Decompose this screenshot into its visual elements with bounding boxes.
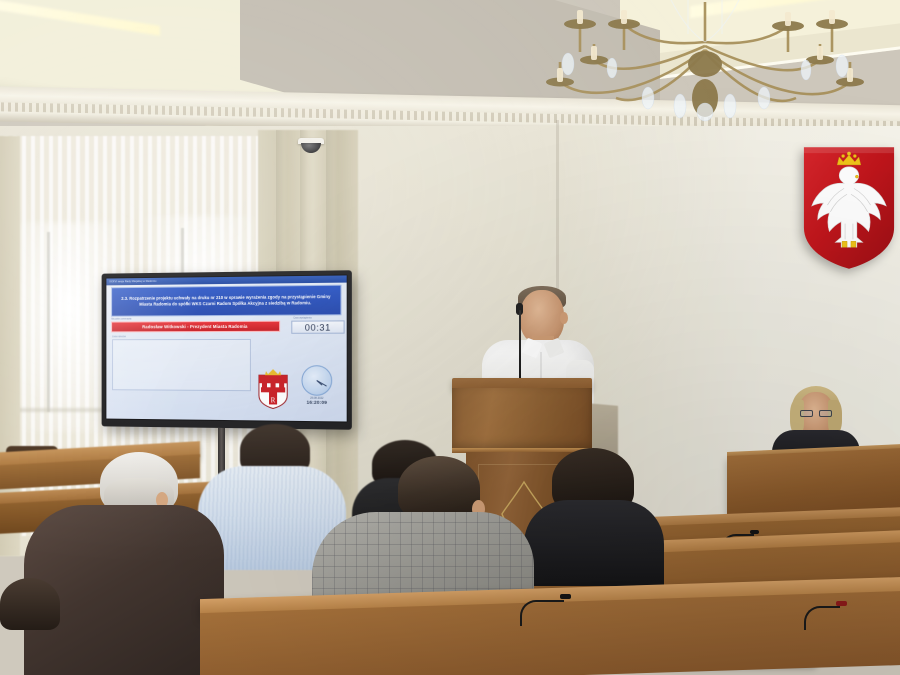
speaker-caption-label: Aktualnie przemawia [111,319,131,321]
council-chamber-photo: XXXVI sesja Rady Miejskiej w Radomiu 2.3… [0,0,900,675]
speaker-ear [560,312,568,324]
speaker-list-box [112,339,251,391]
audience-head-bottom-left [0,578,60,630]
presentation-display[interactable]: XXXVI sesja Rady Miejskiej w Radomiu 2.3… [102,270,352,429]
audience-body-dark [524,500,664,586]
timer-value: 00:31 [305,322,331,332]
tv-bezel: XXXVI sesja Rady Miejskiej w Radomiu 2.3… [105,274,347,422]
slide-titlebar: XXXVI sesja Rady Miejskiej w Radomiu [106,275,346,285]
speaker-name: Radosław Witkowski - Prezydent Miasta Ra… [142,324,247,329]
timer-label: Czas wystąpienia [293,318,311,320]
dais-woman-hair-left [790,400,804,434]
dais-desk-front [727,448,900,516]
wall-clock-widget: 25.08.2022 16:20:09 [299,365,334,412]
clock-face [301,365,332,396]
podium-microphone-stem [519,310,521,382]
agenda-item-text: 2.3. Rozpatrzenie projektu uchwały na dr… [118,294,334,308]
svg-text:R: R [271,397,276,404]
agenda-banner: 2.3. Rozpatrzenie projektu uchwały na dr… [111,285,341,317]
clock-time: 16:20:09 [299,400,334,405]
chandelier-icon [520,0,880,124]
gooseneck-microphone[interactable] [520,592,580,626]
dome-camera-icon [298,138,324,152]
radom-crest-icon: R [256,365,290,410]
speech-timer: 00:31 [291,320,344,333]
dais-woman-hair-right [828,400,842,434]
polish-coat-of-arms-emblem [800,143,898,271]
speaker-list-label: Lista mówców [112,336,126,338]
gooseneck-microphone[interactable] [804,600,852,630]
podium-front-panel [452,388,592,450]
dais-woman-glasses-icon [800,410,832,417]
speaker-name-banner: Radosław Witkowski - Prezydent Miasta Ra… [111,321,280,333]
audience-head-brown-hair [398,456,480,520]
tv-screen: XXXVI sesja Rady Miejskiej w Radomiu 2.3… [106,275,346,421]
window-mullion-left [47,232,50,412]
session-title: XXXVI sesja Rady Miejskiej w Radomiu [106,275,346,285]
